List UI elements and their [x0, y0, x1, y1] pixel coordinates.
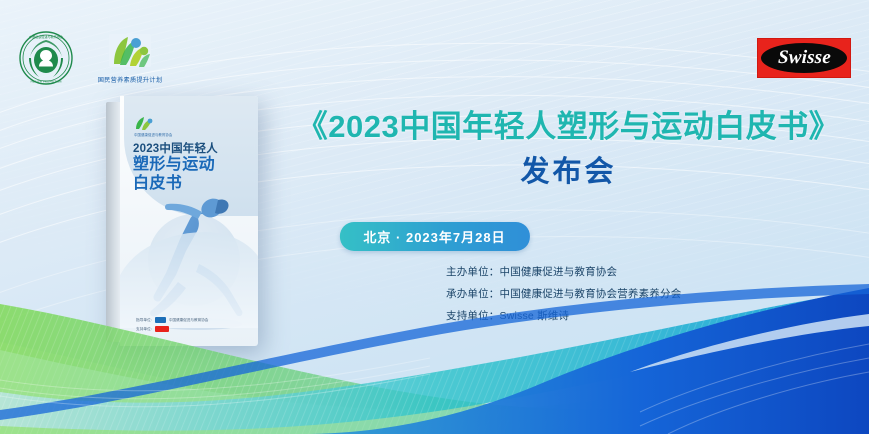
page-subtitle: 发布会 — [286, 155, 851, 190]
header-logo-group: 中国健康促进与教育协会 HEALTH PROMOTION 国民营养素质提升计划 — [18, 30, 164, 86]
national-nutrition-program-logo: 国民营养素质提升计划 — [96, 32, 164, 84]
nutrition-logo-caption: 国民营养素质提升计划 — [98, 74, 163, 84]
book-footer-row-guidance: 指导单位: 中国健康促进与教育协会 — [136, 317, 208, 323]
ribbon-line-texture — [0, 344, 869, 434]
book-footer-org-1: 中国健康促进与教育协会 — [169, 318, 209, 323]
book-cover: 中国健康促进与教育协会 2023中国年轻人 塑形与运动 白皮书 指导单位: 中国… — [120, 96, 258, 346]
book-title-line-3: 白皮书 — [133, 175, 251, 194]
swisse-ellipse: Swisse — [761, 43, 847, 73]
poster-canvas: 中国健康促进与教育协会 HEALTH PROMOTION 国民营养素质提升计划 … — [0, 0, 869, 434]
page-title: 《2023中国年轻人塑形与运动白皮书》 — [286, 108, 851, 147]
book-footer-blue-logo-icon — [155, 317, 166, 323]
organizer-list: 主办单位：中国健康促进与教育协会 承办单位：中国健康促进与教育协会营养素养分会 … — [446, 264, 681, 323]
svg-text:HEALTH PROMOTION: HEALTH PROMOTION — [30, 80, 61, 84]
organizer-line-organizer: 承办单位：中国健康促进与教育协会营养素养分会 — [446, 286, 681, 301]
nutrition-leaf-figure-icon — [106, 32, 154, 72]
book-spine — [106, 102, 121, 342]
book-footer-label-1: 指导单位: — [136, 318, 152, 323]
book-cover-footer: 指导单位: 中国健康促进与教育协会 支持单位: — [136, 317, 208, 332]
swisse-logo: Swisse — [757, 38, 851, 78]
book-title-line-1: 2023中国年轻人 — [133, 143, 251, 156]
health-promotion-emblem-icon: 中国健康促进与教育协会 HEALTH PROMOTION — [18, 30, 74, 86]
organizer-line-supporter: 支持单位：Swisse 斯维诗 — [446, 308, 681, 323]
swisse-wordmark: Swisse — [777, 47, 831, 69]
book-footer-row-support: 支持单位: — [136, 326, 208, 332]
book-cover-leaf-icon — [134, 116, 156, 131]
poster-headline: 《2023中国年轻人塑形与运动白皮书》 发布会 — [286, 108, 851, 190]
organizer-line-host: 主办单位：中国健康促进与教育协会 — [446, 264, 681, 279]
book-title-line-2: 塑形与运动 — [133, 156, 251, 175]
book-footer-swisse-logo-icon — [155, 326, 169, 332]
book-cover-title: 2023中国年轻人 塑形与运动 白皮书 — [133, 143, 251, 193]
book-footer-label-2: 支持单位: — [136, 327, 152, 332]
ribbon-mint — [0, 332, 869, 434]
svg-text:中国健康促进与教育协会: 中国健康促进与教育协会 — [29, 34, 63, 39]
book-cover-logo-caption: 中国健康促进与教育协会 — [134, 132, 172, 137]
whitepaper-book-mockup: 中国健康促进与教育协会 2023中国年轻人 塑形与运动 白皮书 指导单位: 中国… — [106, 96, 258, 346]
date-location-badge: 北京 · 2023年7月28日 — [339, 222, 529, 251]
book-cover-logo: 中国健康促进与教育协会 — [134, 116, 172, 137]
